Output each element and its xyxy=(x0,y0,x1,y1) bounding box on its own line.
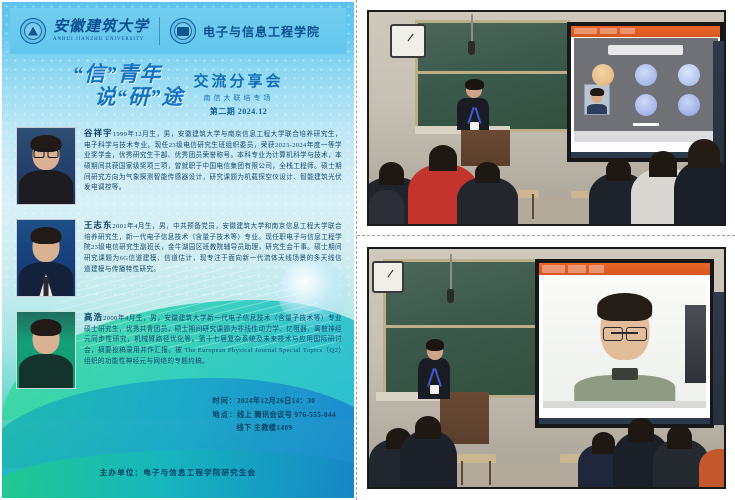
portrait-body xyxy=(19,354,73,388)
participant-avatar[interactable] xyxy=(635,64,657,86)
speaker-list: 谷祥宇1999年12月生，男，安徽建筑大学与南京信息工程大学联合培养研究生，电子… xyxy=(16,127,342,389)
speaker-portrait xyxy=(16,127,76,205)
audience-shoulders xyxy=(674,160,726,224)
glasses-bridge xyxy=(611,332,637,333)
poster-title: “信”青年 说“研”途 交流分享会 南信大联培专场 第二期 2024.12 xyxy=(16,64,340,117)
speaker-entry: 高浩2000年4月生，男，安徽建筑大学新一代电子信息技术（含量子技术等）专业硕士… xyxy=(16,311,342,389)
wall-clock-icon xyxy=(390,24,426,58)
speaker-bio-body: 1999年12月生，男，安徽建筑大学与南京信息工程大学联合培养研究生，电子科学与… xyxy=(84,131,342,191)
speaker-name: 谷祥宇 xyxy=(84,129,113,138)
glasses-icon xyxy=(34,149,59,156)
photo-cell-bottom xyxy=(357,236,735,500)
video-bottom-strip xyxy=(543,401,707,409)
audience-head xyxy=(415,416,442,440)
titlebar-tab[interactable] xyxy=(574,28,597,34)
university-seal-icon xyxy=(20,18,46,44)
photo-panel xyxy=(357,0,735,500)
speaker-name: 王志东 xyxy=(84,221,112,230)
screen-side-strip xyxy=(713,292,724,425)
audience-head xyxy=(475,162,500,183)
audience-shoulders xyxy=(457,177,517,224)
speaker-portrait xyxy=(16,311,76,389)
time-value: 2024年12月26日14：30 xyxy=(237,397,315,405)
wall-clock-icon xyxy=(372,261,404,294)
hanging-mic-cable xyxy=(471,14,473,44)
desk-leg xyxy=(532,194,534,219)
microphone-icon xyxy=(468,41,475,55)
event-place-row: 地点：线上 腾讯会议号 976-555-044 xyxy=(212,409,336,423)
audience-shoulders xyxy=(369,190,405,224)
participant-avatar[interactable] xyxy=(592,64,614,86)
title-line-2: 说“研”途 xyxy=(94,87,183,108)
speaker-bio-text: 高浩2000年4月生，男，安徽建筑大学新一代电子信息技术（含量子技术等）专业硕士… xyxy=(84,311,342,367)
video-side-object xyxy=(685,305,706,383)
participant-avatar[interactable] xyxy=(635,94,657,116)
book-glyph xyxy=(177,27,189,36)
classroom-photo-top xyxy=(367,10,726,226)
classroom-photo-bottom xyxy=(367,247,726,489)
app-titlebar xyxy=(539,263,709,276)
speaker-bio-body: 2000年4月生，男，安徽建筑大学新一代电子信息技术（含量子技术等）专业硕士研究… xyxy=(84,315,342,365)
portrait-body xyxy=(19,170,73,204)
university-name-block: 安徽建筑大学 ANHUI JIANZHU UNIVERSITY xyxy=(53,20,149,42)
poster-header: 安徽建筑大学 ANHUI JIANZHU UNIVERSITY 电子与信息工程学… xyxy=(10,8,346,54)
speaker-bio-text: 谷祥宇1999年12月生，男，安徽建筑大学与南京信息工程大学联合培养研究生，电子… xyxy=(84,127,342,194)
audience-head xyxy=(379,162,404,185)
hanging-mic-cable xyxy=(450,254,452,292)
portrait-hair xyxy=(31,319,62,336)
audience-head xyxy=(606,158,631,181)
title-secondary: 交流分享会 南信大联培专场 第二期 2024.12 xyxy=(193,70,283,117)
meeting-window-body xyxy=(574,38,719,142)
participant-name-label xyxy=(633,123,659,126)
event-place-row-offline: 线下 主教楼1409 xyxy=(212,422,336,436)
photo-cell-top xyxy=(357,0,735,236)
speaker-entry: 谷祥宇1999年12月生，男，安徽建筑大学与南京信息工程大学联合培养研究生，电子… xyxy=(16,127,342,205)
participant-avatar[interactable] xyxy=(678,64,700,86)
host-organization: 主办单位：电子与信息工程学院研究生会 xyxy=(2,467,354,478)
projector-screen[interactable] xyxy=(535,259,713,429)
meeting-search-input[interactable] xyxy=(608,45,683,54)
blackboard-rail xyxy=(418,71,567,74)
place-online: 线上 腾讯会议号 976-555-044 xyxy=(237,411,336,419)
title-session-name: 南信大联培专场 xyxy=(193,93,283,103)
speaker-bio-text: 王志东2001年4月生，男，中共预备党员，安徽建筑大学和南京信息工程大学联合培养… xyxy=(84,219,342,275)
college-name-cn: 电子与信息工程学院 xyxy=(203,23,320,40)
app-titlebar xyxy=(571,26,720,37)
audience-head xyxy=(628,418,655,442)
remote-speaker-neck xyxy=(611,368,637,381)
participant-avatar[interactable] xyxy=(678,94,700,116)
titlebar-tab[interactable] xyxy=(542,265,565,273)
seal-glyph xyxy=(28,27,38,36)
audience-head xyxy=(688,139,720,169)
title-issue: 第二期 2024.12 xyxy=(193,106,283,117)
time-label: 时间： xyxy=(212,397,237,405)
audience-head xyxy=(429,145,457,170)
screenshot-root: 安徽建筑大学 ANHUI JIANZHU UNIVERSITY 电子与信息工程学… xyxy=(0,0,735,500)
id-badge xyxy=(470,122,479,130)
titlebar-tab[interactable] xyxy=(600,28,617,34)
university-name-cn: 安徽建筑大学 xyxy=(53,20,149,36)
place-label: 地点： xyxy=(212,411,237,419)
event-meta: 时间：2024年12月26日14：30 地点：线上 腾讯会议号 976-555-… xyxy=(212,395,336,436)
desk-leg xyxy=(461,461,463,485)
remote-speaker-hair xyxy=(597,293,653,321)
blackboard xyxy=(415,20,570,132)
os-taskbar[interactable] xyxy=(539,418,709,424)
place-offline: 线下 主教楼1409 xyxy=(236,424,292,432)
titlebar-tab[interactable] xyxy=(620,28,634,34)
poster-panel: 安徽建筑大学 ANHUI JIANZHU UNIVERSITY 电子与信息工程学… xyxy=(0,0,357,500)
blackboard xyxy=(383,259,542,398)
portrait-hair xyxy=(31,227,62,244)
desk-leg xyxy=(489,461,491,485)
event-poster: 安徽建筑大学 ANHUI JIANZHU UNIVERSITY 电子与信息工程学… xyxy=(2,2,354,498)
titlebar-tab[interactable] xyxy=(589,265,604,273)
audience-head xyxy=(667,425,692,449)
header-divider xyxy=(159,17,160,45)
titlebar-tab[interactable] xyxy=(568,265,586,273)
participant-avatar-grid xyxy=(582,61,709,119)
university-name-en: ANHUI JIANZHU UNIVERSITY xyxy=(53,37,149,42)
audience-shoulders xyxy=(699,449,726,487)
title-line-1: “信”青年 xyxy=(72,64,183,85)
title-main: “信”青年 说“研”途 xyxy=(72,64,183,108)
title-subtitle: 交流分享会 xyxy=(193,70,283,91)
blackboard-rail xyxy=(386,325,539,328)
speaker-portrait xyxy=(16,219,76,297)
speaker-hair xyxy=(465,79,483,90)
speaker-name: 高浩 xyxy=(84,313,103,322)
microphone-icon xyxy=(447,289,454,303)
portrait-tie xyxy=(44,277,49,296)
speaker-hair xyxy=(426,339,444,351)
podium xyxy=(461,130,511,166)
college-seal-icon xyxy=(170,18,196,44)
speaker-entry: 王志东2001年4月生，男，中共预备党员，安徽建筑大学和南京信息工程大学联合培养… xyxy=(16,219,342,297)
event-time-row: 时间：2024年12月26日14：30 xyxy=(212,395,336,409)
id-badge xyxy=(430,385,439,395)
remote-speaker-video xyxy=(543,282,707,408)
audience-head xyxy=(592,432,615,453)
audience-head xyxy=(649,151,677,176)
speaker-bio-body: 2001年4月生，男，中共预备党员，安徽建筑大学和南京信息工程大学联合培养研究生… xyxy=(84,223,342,273)
